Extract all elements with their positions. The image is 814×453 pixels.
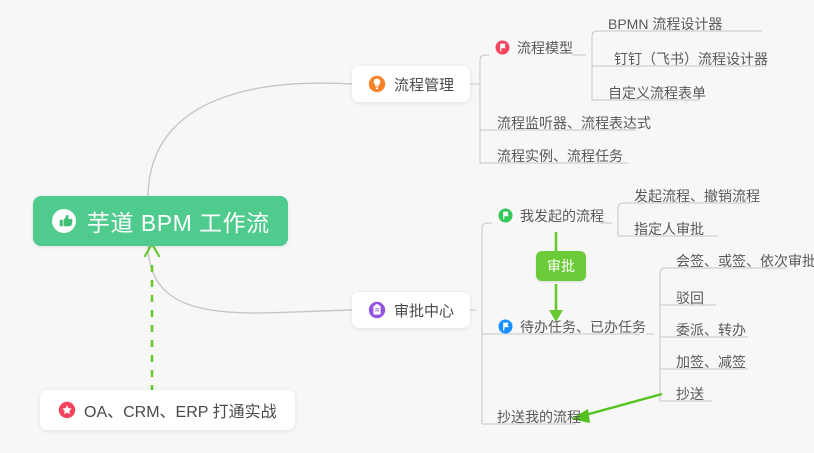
clipboard-icon — [368, 301, 386, 319]
node-instance-task[interactable]: 流程实例、流程任务 — [487, 138, 631, 166]
edge-pm-child-1 — [480, 55, 489, 60]
node-my-started-process[interactable]: 我发起的流程 — [492, 198, 612, 226]
node-carbon-copy-label: 抄送 — [676, 387, 704, 401]
flag-red-icon — [495, 40, 510, 55]
root-node[interactable]: 芋道 BPM 工作流 — [33, 196, 288, 246]
node-my-started-process-label: 我发起的流程 — [520, 209, 604, 223]
node-todo-done-tasks-label: 待办任务、已办任务 — [520, 320, 646, 334]
edge-root-to-process-management — [148, 83, 352, 196]
node-countersign-label: 会签、或签、依次审批 — [676, 254, 814, 268]
approval-flow-badge: 审批 — [536, 251, 586, 281]
approval-flow-badge-label: 审批 — [547, 256, 575, 276]
node-process-model[interactable]: 流程模型 — [489, 30, 581, 58]
node-add-remove-sign[interactable]: 加签、减签 — [666, 344, 754, 372]
thumbs-up-icon — [51, 208, 77, 234]
node-delegate-transfer-label: 委派、转办 — [676, 323, 746, 337]
node-dingtalk-designer[interactable]: 钉钉（飞书）流程设计器 — [604, 41, 776, 69]
node-custom-form-label: 自定义流程表单 — [608, 86, 706, 100]
node-instance-task-label: 流程实例、流程任务 — [497, 149, 623, 163]
node-cc-my-process[interactable]: 抄送我的流程 — [487, 399, 589, 427]
edge-ac-child-1 — [482, 223, 492, 228]
branch-process-management-label: 流程管理 — [394, 74, 454, 95]
flag-blue-icon — [498, 319, 513, 334]
node-process-model-label: 流程模型 — [517, 41, 573, 55]
lightbulb-icon — [368, 75, 386, 93]
node-start-cancel-process-label: 发起流程、撤销流程 — [634, 189, 760, 203]
star-icon — [58, 401, 76, 419]
node-carbon-copy[interactable]: 抄送 — [666, 376, 712, 404]
node-custom-form[interactable]: 自定义流程表单 — [598, 75, 714, 103]
flag-green-icon — [498, 208, 513, 223]
node-bpmn-designer-label: BPMN 流程设计器 — [608, 17, 722, 31]
branch-approval-center-label: 审批中心 — [394, 300, 454, 321]
node-reject-label: 驳回 — [676, 291, 704, 305]
node-todo-done-tasks[interactable]: 待办任务、已办任务 — [492, 309, 654, 337]
callout-label: OA、CRM、ERP 打通实战 — [84, 398, 277, 422]
callout-node[interactable]: OA、CRM、ERP 打通实战 — [40, 390, 295, 430]
node-cc-my-process-label: 抄送我的流程 — [497, 410, 581, 424]
branch-approval-center[interactable]: 审批中心 — [352, 292, 470, 328]
arrow-cc-to-cc-my-process — [578, 394, 662, 417]
node-reject[interactable]: 驳回 — [666, 280, 712, 308]
node-delegate-transfer[interactable]: 委派、转办 — [666, 312, 754, 340]
root-label: 芋道 BPM 工作流 — [87, 204, 270, 238]
node-start-cancel-process[interactable]: 发起流程、撤销流程 — [624, 178, 768, 206]
edge-root-to-approval-center — [148, 246, 352, 313]
node-listener-expression-label: 流程监听器、流程表达式 — [497, 116, 651, 130]
node-bpmn-designer[interactable]: BPMN 流程设计器 — [598, 6, 730, 34]
node-listener-expression[interactable]: 流程监听器、流程表达式 — [487, 105, 659, 133]
node-countersign[interactable]: 会签、或签、依次审批 — [666, 243, 814, 271]
branch-process-management[interactable]: 流程管理 — [352, 66, 470, 102]
node-assignee-approval[interactable]: 指定人审批 — [624, 211, 712, 239]
mindmap-canvas: 芋道 BPM 工作流 OA、CRM、ERP 打通实战 流程管理 — [0, 0, 814, 453]
node-assignee-approval-label: 指定人审批 — [634, 222, 704, 236]
node-dingtalk-designer-label: 钉钉（飞书）流程设计器 — [614, 52, 768, 66]
node-add-remove-sign-label: 加签、减签 — [676, 355, 746, 369]
